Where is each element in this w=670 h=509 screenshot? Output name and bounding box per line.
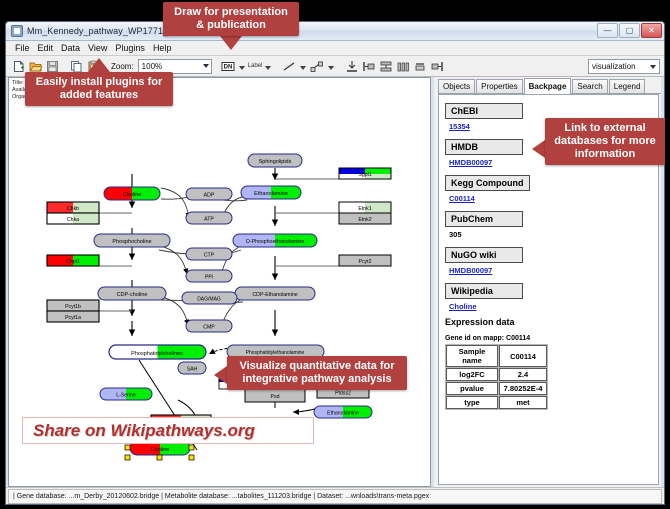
gene-chka: Chka bbox=[47, 213, 99, 224]
node-phosphocholine: Phosphocholine bbox=[94, 234, 170, 247]
annotation-draw: Draw for presentation & publication bbox=[163, 2, 299, 36]
node-label: Phosphocholine bbox=[112, 239, 151, 245]
zoom-label: Zoom: bbox=[111, 62, 134, 71]
annotation-link: Link to external databases for more info… bbox=[545, 118, 665, 165]
node-label: Etnk2 bbox=[358, 217, 371, 223]
node-label: CMP bbox=[203, 325, 215, 331]
annotation-plugins-arrow-icon bbox=[88, 58, 110, 72]
db-header-chebi: ChEBI bbox=[445, 103, 523, 119]
gene-sgpl1: Sgpl1 bbox=[339, 168, 391, 179]
app-icon bbox=[11, 25, 23, 37]
gene-etnk1: Etnk1 bbox=[339, 202, 391, 213]
node-label: Pcyt2 bbox=[359, 259, 372, 265]
node-label: ADP bbox=[204, 193, 215, 199]
node-label: Sphingolipids bbox=[259, 159, 292, 165]
gene-psd: Psd bbox=[245, 389, 305, 402]
node-label: CTP bbox=[204, 253, 215, 259]
node-label: Ethanolamine bbox=[327, 411, 359, 417]
shape-tool-icon[interactable] bbox=[309, 58, 325, 74]
align-bottom-icon[interactable] bbox=[412, 58, 428, 74]
table-row: type met bbox=[446, 396, 547, 409]
node-label: Choline bbox=[151, 447, 170, 453]
node-label: Phosphatidylcholines bbox=[131, 351, 183, 357]
row-key: Sample name bbox=[446, 345, 498, 367]
line-dropdown-icon[interactable] bbox=[300, 66, 306, 70]
node-label: Ethanolamine bbox=[254, 191, 288, 197]
gene-pcyt1b: Pcyt1b bbox=[47, 300, 99, 311]
chevron-down-icon bbox=[203, 64, 209, 68]
node-label: Pcyt1b bbox=[65, 304, 81, 310]
annotation-visualize: Visualize quantitative data for integrat… bbox=[227, 356, 407, 390]
node-label: Pcyt1a bbox=[65, 315, 81, 321]
node-label: Ptdss2 bbox=[335, 391, 351, 397]
close-button[interactable]: ✕ bbox=[641, 23, 662, 38]
node-label: L-Serine bbox=[116, 393, 136, 399]
menu-item-data[interactable]: Data bbox=[57, 42, 84, 55]
distribute-icon[interactable] bbox=[395, 58, 411, 74]
shape-dropdown-icon[interactable] bbox=[328, 66, 334, 70]
status-bar: | Gene database: ...m_Derby_20120602.bri… bbox=[6, 487, 664, 504]
annotation-plugins: Easily install plugins for added feature… bbox=[25, 72, 173, 106]
menu-item-view[interactable]: View bbox=[84, 42, 111, 55]
node-label: Etnk1 bbox=[358, 206, 371, 212]
tab-search[interactable]: Search bbox=[572, 79, 607, 93]
db-header-hmdb: HMDB bbox=[445, 139, 523, 155]
node-label: Chkb bbox=[67, 206, 79, 212]
screenshot-root: Mm_Kennedy_pathway_WP1771_45176.gpml — ▢… bbox=[0, 0, 670, 509]
row-key: log2FC bbox=[446, 368, 498, 381]
window-buttons: — ▢ ✕ bbox=[597, 23, 662, 38]
node-label: CDP-choline bbox=[117, 292, 148, 298]
expression-table: Sample name C00114 log2FC 2.4 pvalue 7.8… bbox=[445, 344, 548, 410]
stack-vertical-icon[interactable] bbox=[378, 58, 394, 74]
gene-chpt1: Chpt1 bbox=[47, 255, 99, 266]
node-adp: ADP bbox=[186, 188, 232, 200]
node-label: Choline bbox=[123, 192, 142, 198]
node-l-serine-left: L-Serine bbox=[100, 388, 152, 400]
db-value-pubchem: 305 bbox=[449, 230, 658, 239]
align-top-icon[interactable] bbox=[344, 58, 360, 74]
node-label: Chpt1 bbox=[66, 259, 80, 265]
node-dagmag: DAG/MAG bbox=[182, 292, 237, 304]
node-label: O-Phosphoethanolamine bbox=[246, 239, 305, 245]
db-link-kegg[interactable]: C00114 bbox=[449, 194, 658, 203]
db-block-wikipedia: Wikipedia Choline bbox=[445, 281, 658, 311]
db-block-nugo: NuGO wiki HMDB00097 bbox=[445, 245, 658, 275]
db-link-wikipedia[interactable]: Choline bbox=[449, 302, 658, 311]
db-header-wikipedia: Wikipedia bbox=[445, 283, 523, 299]
chevron-down-icon bbox=[650, 65, 656, 69]
db-block-pubchem: PubChem 305 bbox=[445, 209, 658, 239]
node-label: Chka bbox=[67, 217, 79, 223]
label-dropdown-icon[interactable] bbox=[265, 66, 271, 70]
db-header-kegg: Kegg Compound bbox=[445, 175, 530, 191]
table-row: Sample name C00114 bbox=[446, 345, 547, 367]
annotation-link-arrow-icon bbox=[532, 140, 545, 158]
node-label: Sgpl1 bbox=[358, 172, 371, 178]
zoom-value: 100% bbox=[142, 62, 162, 71]
node-sphingolipids: Sphingolipids bbox=[248, 154, 302, 167]
table-row: pvalue 7.80252E-4 bbox=[446, 382, 547, 395]
table-row: log2FC 2.4 bbox=[446, 368, 547, 381]
row-value: met bbox=[499, 396, 547, 409]
annotation-share: Share on Wikipathways.org bbox=[22, 417, 314, 444]
node-label: DAG/MAG bbox=[197, 297, 221, 303]
align-left-icon[interactable] bbox=[361, 58, 377, 74]
node-ppi: PPi bbox=[186, 270, 232, 282]
row-value: 2.4 bbox=[499, 368, 547, 381]
menu-bar: File Edit Data View Plugins Help bbox=[6, 41, 664, 56]
minimize-button[interactable]: — bbox=[597, 23, 618, 38]
datanode-tool-icon[interactable]: DN bbox=[220, 58, 236, 74]
db-link-nugo[interactable]: HMDB00097 bbox=[449, 266, 658, 275]
expression-data-title: Expression data bbox=[445, 317, 658, 327]
node-cdp-ethanolamine: CDP-Ethanolamine bbox=[235, 287, 315, 300]
node-sah: SAH bbox=[178, 362, 206, 374]
node-label: CDP-Ethanolamine bbox=[252, 292, 297, 298]
visualization-value: visualization bbox=[592, 62, 636, 71]
node-label: SAH bbox=[187, 367, 198, 373]
row-key: type bbox=[446, 396, 498, 409]
row-value: C00114 bbox=[499, 345, 547, 367]
db-header-nugo: NuGO wiki bbox=[445, 247, 523, 263]
side-panel-tabs: Objects Properties Backpage Search Legen… bbox=[438, 79, 661, 94]
title-bar: Mm_Kennedy_pathway_WP1771_45176.gpml — ▢… bbox=[6, 22, 664, 41]
align-right-icon[interactable] bbox=[429, 58, 445, 74]
db-header-pubchem: PubChem bbox=[445, 211, 523, 227]
node-choline-top: Choline bbox=[104, 187, 160, 200]
label-tool-label[interactable]: Label bbox=[248, 63, 263, 69]
node-atp: ATP bbox=[186, 212, 232, 224]
menu-item-help[interactable]: Help bbox=[149, 42, 176, 55]
metabolite-nodes: Sphingolipids Choline Ethanolamine bbox=[94, 154, 372, 460]
tab-objects[interactable]: Objects bbox=[438, 79, 475, 93]
annotation-draw-arrow-icon bbox=[220, 36, 242, 50]
row-key: pvalue bbox=[446, 382, 498, 395]
menu-item-plugins[interactable]: Plugins bbox=[111, 42, 149, 55]
visualization-combo[interactable]: visualization bbox=[588, 59, 660, 74]
svg-text:DN: DN bbox=[223, 64, 232, 70]
menu-item-file[interactable]: File bbox=[11, 42, 34, 55]
tab-legend[interactable]: Legend bbox=[609, 79, 646, 93]
annotation-visualize-arrow-icon bbox=[214, 366, 227, 384]
gene-pcyt2: Pcyt2 bbox=[339, 255, 391, 266]
datanode-dropdown-icon[interactable] bbox=[239, 66, 245, 70]
node-ctp: CTP bbox=[186, 248, 232, 260]
tab-properties[interactable]: Properties bbox=[476, 79, 522, 93]
node-ethanolamine-right: Ethanolamine bbox=[314, 406, 372, 418]
db-block-kegg: Kegg Compound C00114 bbox=[445, 173, 658, 203]
menu-item-edit[interactable]: Edit bbox=[34, 42, 58, 55]
node-o-phosphoethanolamine: O-Phosphoethanolamine bbox=[233, 234, 317, 247]
new-file-icon[interactable] bbox=[10, 58, 26, 74]
node-label: PPi bbox=[205, 275, 213, 281]
node-label: ATP bbox=[204, 217, 214, 223]
gene-id-line: Gene id on mapp: C00114 bbox=[445, 335, 658, 342]
status-text: | Gene database: ...m_Derby_20120602.bri… bbox=[8, 489, 662, 504]
node-cmp: CMP bbox=[186, 320, 232, 332]
gene-etnk2: Etnk2 bbox=[339, 213, 391, 224]
tab-backpage[interactable]: Backpage bbox=[524, 78, 572, 94]
row-value: 7.80252E-4 bbox=[499, 382, 547, 395]
line-tool-icon[interactable] bbox=[281, 58, 297, 74]
gene-chkb: Chkb bbox=[47, 202, 99, 213]
node-phosphatidylcholines: Phosphatidylcholines bbox=[109, 345, 206, 359]
node-label: Psd bbox=[271, 394, 280, 400]
node-cdp-choline: CDP-choline bbox=[98, 287, 166, 300]
gene-pcyt1a: Pcyt1a bbox=[47, 311, 99, 322]
node-ethanolamine-top: Ethanolamine bbox=[241, 186, 301, 199]
maximize-button[interactable]: ▢ bbox=[619, 23, 640, 38]
